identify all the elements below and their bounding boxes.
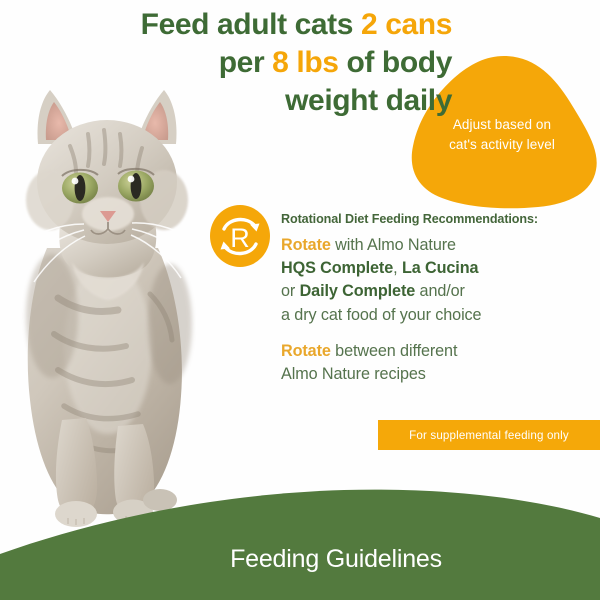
headline: Feed adult cats 2 cans per 8 lbs of body… <box>60 6 452 120</box>
recommendation-line-2: HQS Complete, La Cucina <box>281 257 581 280</box>
recommendation-line-2-comma: , <box>393 259 402 277</box>
recommendation-line-5: Rotate between different <box>281 340 581 363</box>
callout-text: Adjust based on cat's activity level <box>414 115 590 156</box>
recommendation-line-6: Almo Nature recipes <box>281 363 581 386</box>
headline-accent-cans: 2 cans <box>361 8 452 41</box>
brand-hqs-complete: HQS Complete <box>281 259 393 277</box>
footer-shape <box>0 480 600 600</box>
supplemental-feeding-label: For supplemental feeding only <box>409 429 569 442</box>
headline-line-3: weight daily <box>60 82 452 120</box>
recommendation-line-4: a dry cat food of your choice <box>281 304 581 327</box>
rotation-icon-letter: R <box>230 223 250 253</box>
headline-line-2-prefix: per <box>219 46 272 79</box>
cat-photo <box>0 48 215 528</box>
recommendation-line-1-rest: with Almo Nature <box>331 236 456 254</box>
recommendations-spacer <box>281 327 581 340</box>
recommendation-line-5-rest: between different <box>331 342 458 360</box>
recommendations-block: Rotational Diet Feeding Recommendations:… <box>281 212 581 387</box>
recommendations-title: Rotational Diet Feeding Recommendations: <box>281 212 581 228</box>
headline-line-1-text: Feed adult cats <box>141 8 361 41</box>
rotate-keyword-2: Rotate <box>281 342 331 360</box>
rotate-keyword-1: Rotate <box>281 236 331 254</box>
headline-line-1: Feed adult cats 2 cans <box>60 6 452 44</box>
brand-la-cucina: La Cucina <box>402 259 478 277</box>
rotation-r-icon: R <box>209 204 271 268</box>
callout-line-1: Adjust based on <box>414 115 590 135</box>
brand-daily-complete: Daily Complete <box>300 282 416 300</box>
recommendation-line-3-prefix: or <box>281 282 300 300</box>
recommendation-line-1: Rotate with Almo Nature <box>281 234 581 257</box>
headline-accent-lbs: 8 lbs <box>272 46 338 79</box>
footer-title: Feeding Guidelines <box>0 545 600 574</box>
recommendation-line-3: or Daily Complete and/or <box>281 280 581 303</box>
supplemental-feeding-banner: For supplemental feeding only <box>378 420 600 450</box>
headline-line-2-suffix: of body <box>339 46 452 79</box>
recommendation-line-3-suffix: and/or <box>415 282 465 300</box>
callout-line-2: cat's activity level <box>414 135 590 155</box>
headline-line-2: per 8 lbs of body <box>60 44 452 82</box>
infographic-canvas: Feed adult cats 2 cans per 8 lbs of body… <box>0 0 600 600</box>
